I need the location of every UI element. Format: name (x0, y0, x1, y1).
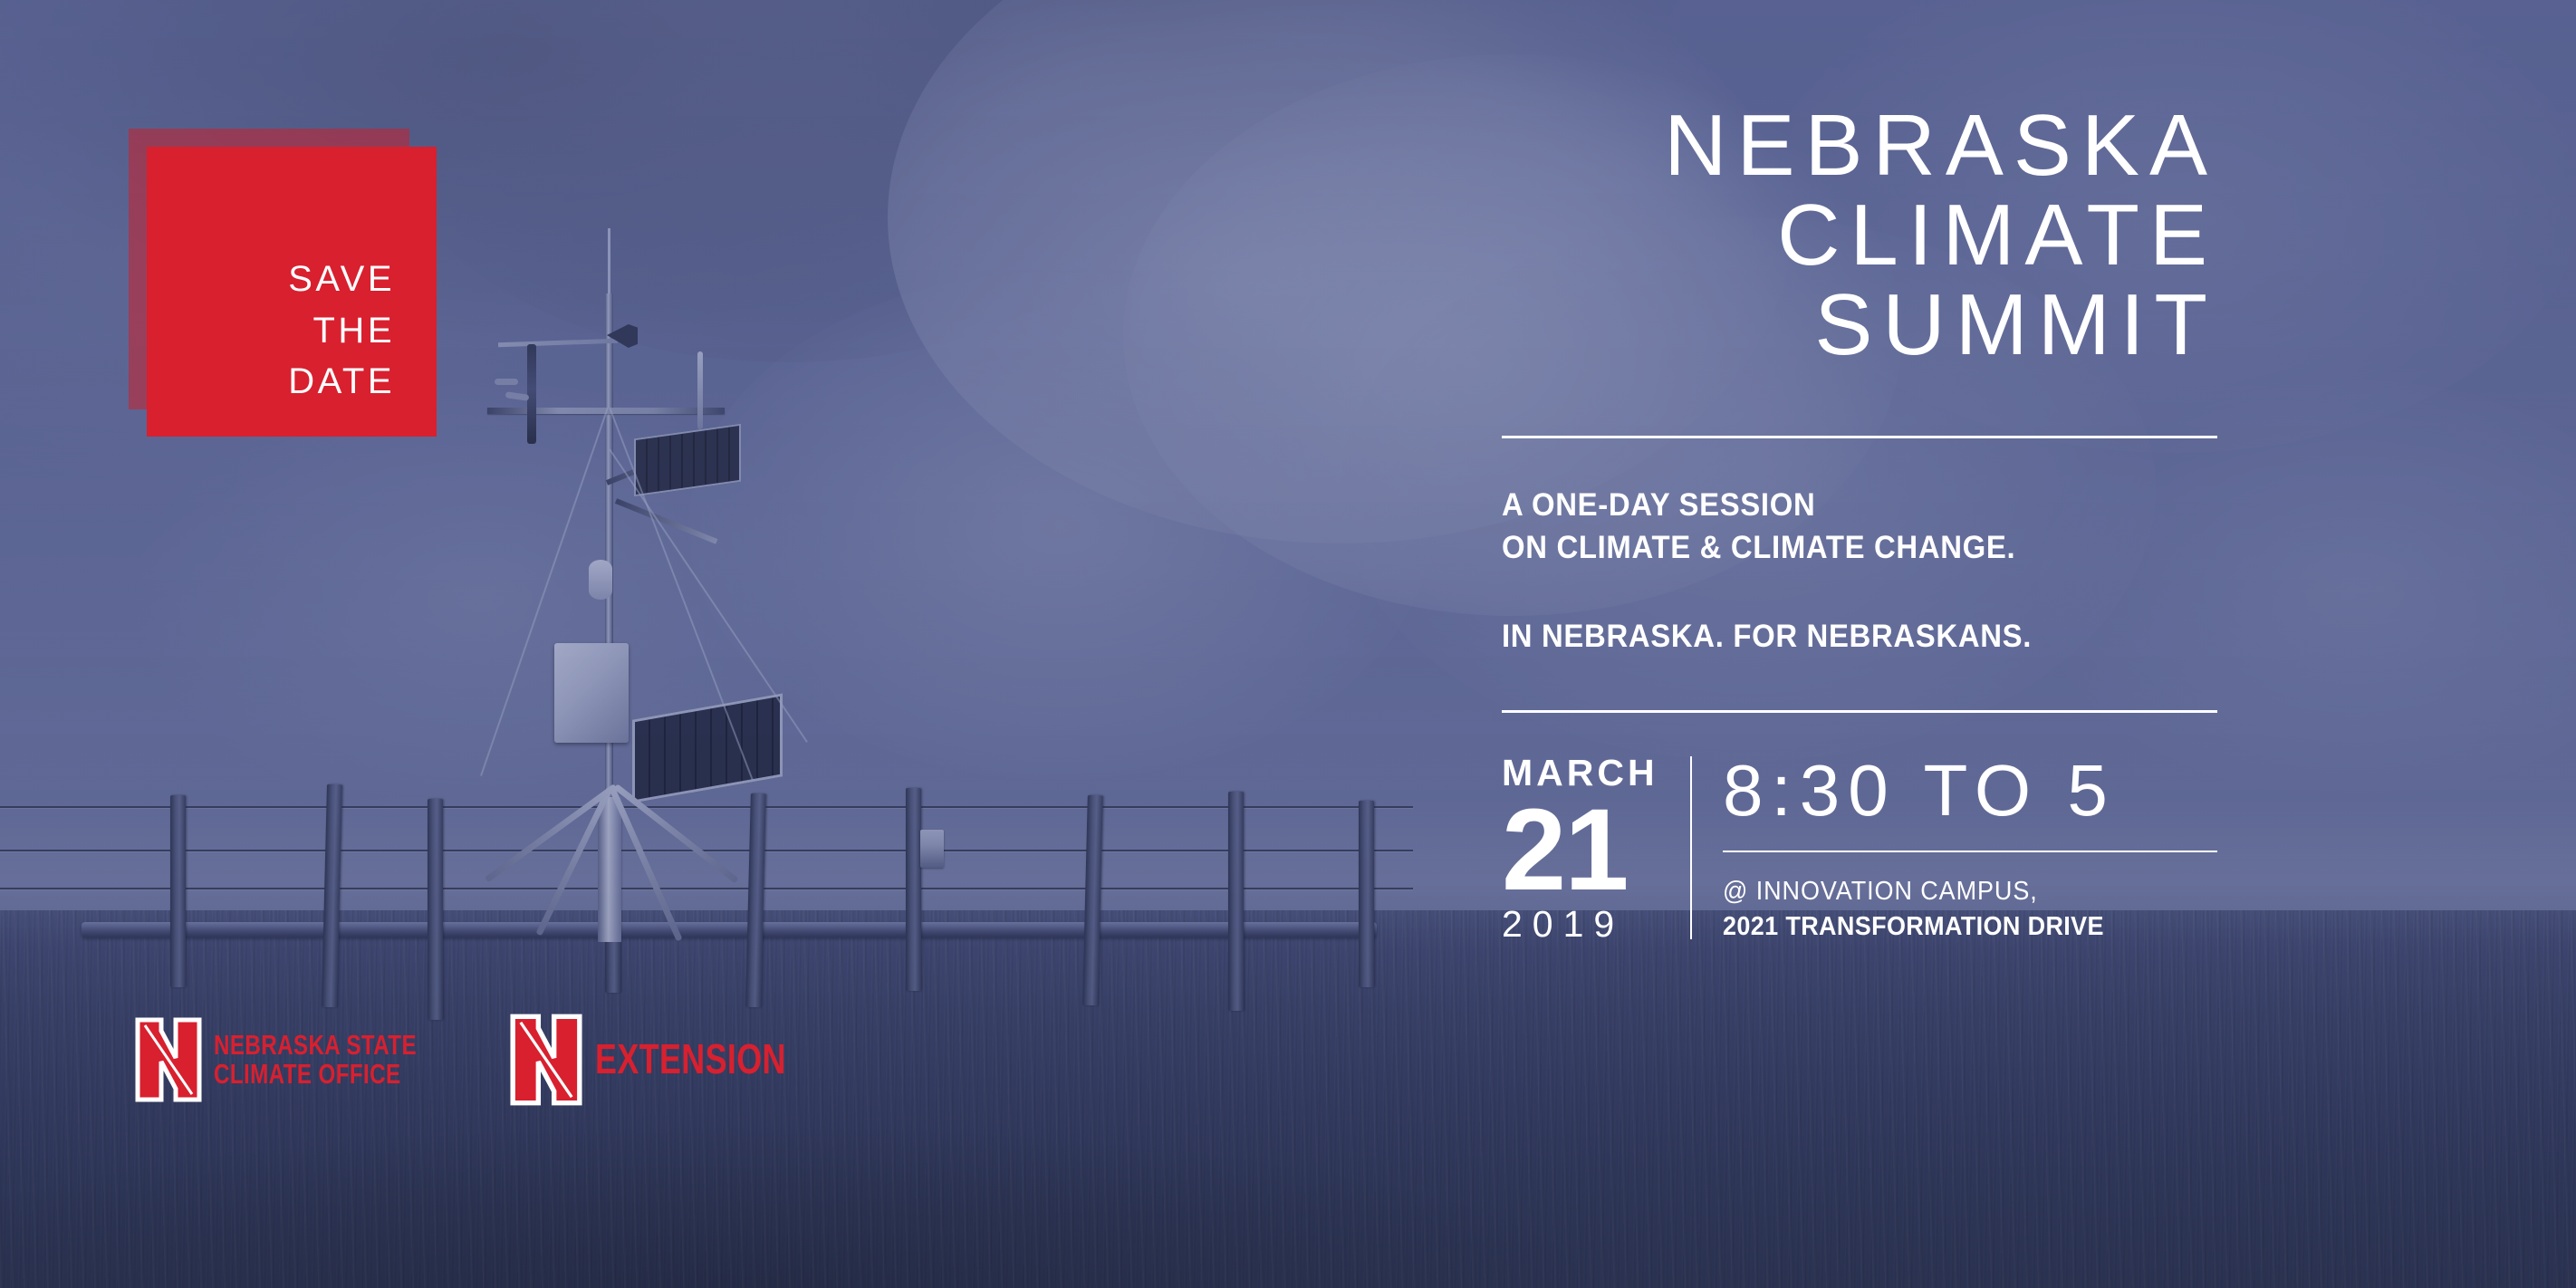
subhead-line-1: A ONE-DAY SESSION (1502, 484, 2175, 527)
climate-office-wordmark: NEBRASKA STATE CLIMATE OFFICE (214, 1031, 417, 1089)
divider-above-venue (1723, 851, 2217, 852)
date-column: MARCH 21 2019 (1502, 753, 1690, 943)
divider-above-date (1502, 710, 2217, 713)
badge-text: SAVE THE DATE (147, 147, 437, 437)
event-time: 8:30 TO 5 (1723, 755, 2217, 827)
save-the-date-badge: SAVE THE DATE (129, 129, 437, 437)
nebraska-extension-logo: EXTENSION (508, 1013, 840, 1107)
save-the-date-poster: SAVE THE DATE NEBRASKA CLIMATE SUMMIT A … (0, 0, 2576, 1288)
nebraska-n-icon (134, 1016, 203, 1103)
event-content-column: NEBRASKA CLIMATE SUMMIT A ONE-DAY SESSIO… (1502, 0, 2217, 1288)
title-line-summit: SUMMIT (1502, 281, 2217, 370)
nebraska-state-climate-office-logo: NEBRASKA STATE CLIMATE OFFICE (134, 1016, 474, 1103)
badge-line-3: DATE (288, 356, 395, 408)
event-description: A ONE-DAY SESSION ON CLIMATE & CLIMATE C… (1502, 484, 2175, 658)
divider-above-subhead (1502, 436, 2217, 438)
title-line-climate: CLIMATE (1502, 191, 2217, 281)
subhead-line-3: IN NEBRASKA. FOR NEBRASKANS. (1502, 615, 2175, 658)
extension-wordmark: EXTENSION (595, 1038, 786, 1081)
title-line-nebraska: NEBRASKA (1502, 101, 2217, 191)
page-title: NEBRASKA CLIMATE SUMMIT (1502, 101, 2217, 370)
event-day: 21 (1502, 797, 1690, 904)
badge-line-2: THE (313, 305, 396, 357)
climate-office-line-2: CLIMATE OFFICE (214, 1058, 400, 1090)
event-year: 2019 (1502, 906, 1690, 943)
date-time-block: MARCH 21 2019 8:30 TO 5 @ INNOVATION CAM… (1502, 753, 2217, 945)
subhead-line-2: ON CLIMATE & CLIMATE CHANGE. (1502, 526, 2175, 570)
event-venue: @ INNOVATION CAMPUS, 2021 TRANSFORMATION… (1723, 874, 2183, 945)
climate-office-line-1: NEBRASKA STATE (214, 1029, 417, 1061)
venue-line-1: @ INNOVATION CAMPUS, (1723, 874, 2183, 909)
nebraska-n-icon (508, 1013, 584, 1107)
badge-line-1: SAVE (288, 254, 395, 305)
venue-line-2: 2021 TRANSFORMATION DRIVE (1723, 909, 2183, 945)
sponsor-logos: NEBRASKA STATE CLIMATE OFFICE EXTENSION (134, 1013, 840, 1107)
time-venue-column: 8:30 TO 5 @ INNOVATION CAMPUS, 2021 TRAN… (1692, 753, 2217, 945)
